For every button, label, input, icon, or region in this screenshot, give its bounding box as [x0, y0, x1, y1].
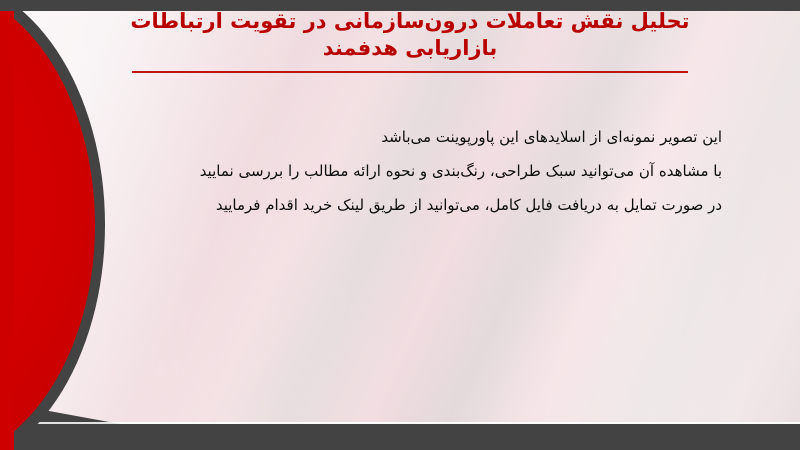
left-top-corner-accent — [0, 0, 40, 11]
body-line-3: در صورت تمایل به دریافت فایل کامل، می‌تو… — [200, 188, 722, 222]
bottom-highlight-line — [34, 422, 800, 424]
slide-title: تحلیل نقش تعاملات درون‌سازمانی در تقویت … — [100, 8, 720, 62]
body-line-1: این تصویر نمونه‌ای از اسلایدهای این پاور… — [200, 120, 722, 154]
slide-body-text: این تصویر نمونه‌ای از اسلایدهای این پاور… — [200, 120, 722, 222]
presentation-slide: تحلیل نقش تعاملات درون‌سازمانی در تقویت … — [0, 0, 800, 450]
body-line-2: با مشاهده آن می‌توانید سبک طراحی، رنگ‌بن… — [200, 154, 722, 188]
slide-title-line-1: تحلیل نقش تعاملات درون‌سازمانی در تقویت … — [100, 8, 720, 35]
slide-title-line-2: بازاریابی هدفمند — [100, 35, 720, 62]
background-sheen — [0, 0, 800, 450]
left-edge-accent — [0, 0, 14, 450]
bottom-frame-band — [0, 424, 800, 450]
title-underline-rule — [132, 71, 688, 73]
